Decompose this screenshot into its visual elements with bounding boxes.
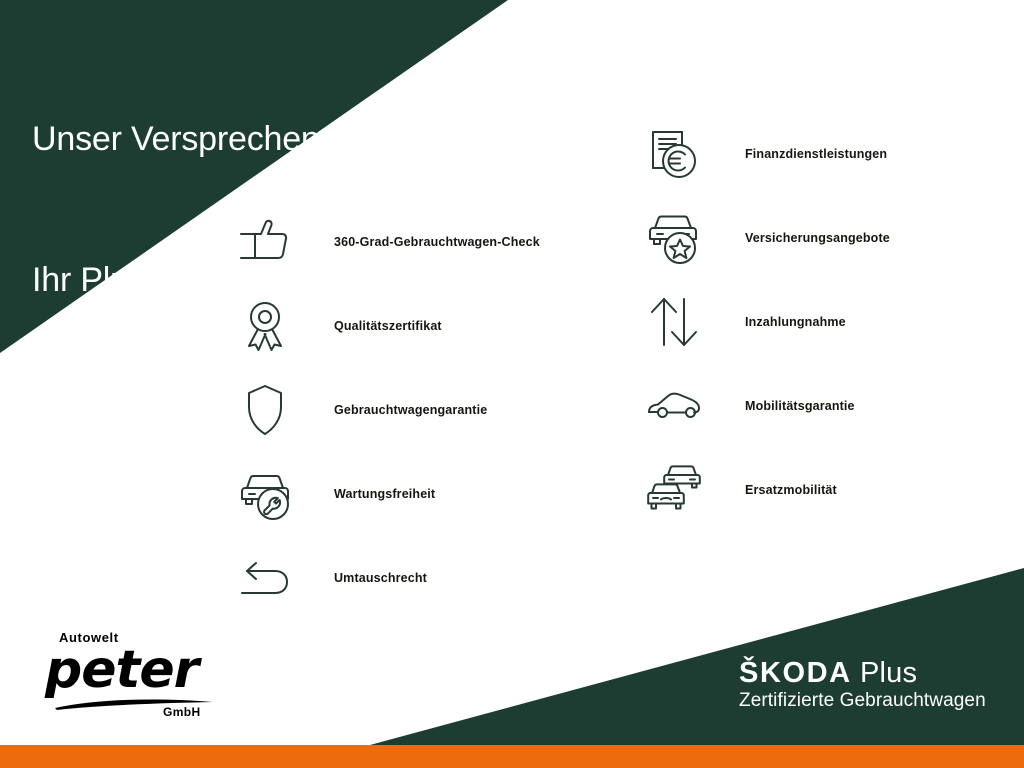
feature-item-financial-services: Finanzdienstleistungen — [645, 112, 975, 196]
thumbs-up-icon — [236, 213, 294, 271]
feature-item-mobility-guarantee: Mobilitätsgarantie — [645, 364, 975, 448]
feature-list-left: 360-Grad-Gebrauchtwagen-Check Qualitätsz… — [236, 200, 576, 620]
feature-label: Qualitätszertifikat — [334, 319, 442, 333]
car-star-icon — [645, 209, 703, 267]
feature-list-right: Finanzdienstleistungen Versicherungsange… — [645, 112, 975, 532]
dealer-logo-sub-text: GmbH — [163, 705, 201, 719]
feature-label: Gebrauchtwagengarantie — [334, 403, 487, 417]
feature-item-warranty: Gebrauchtwagengarantie — [236, 368, 576, 452]
feature-item-replacement-mobility: Ersatzmobilität — [645, 448, 975, 532]
up-down-arrows-icon — [645, 293, 703, 351]
feature-item-insurance-offers: Versicherungsangebote — [645, 196, 975, 280]
feature-label: 360-Grad-Gebrauchtwagen-Check — [334, 235, 540, 249]
dealer-logo: Autowelt peter GmbH — [45, 630, 225, 715]
skoda-plus-tagline: Zertifizierte Gebrauchtwagen — [739, 690, 986, 712]
orange-bottom-bar — [0, 745, 1024, 768]
feature-item-trade-in: Inzahlungnahme — [645, 280, 975, 364]
car-side-icon — [645, 377, 703, 435]
skoda-plus-title: ŠKODA Plus — [739, 658, 986, 688]
car-wrench-icon — [236, 465, 294, 523]
award-rosette-icon — [236, 297, 294, 355]
feature-item-return-right: Umtauschrecht — [236, 536, 576, 620]
feature-label: Ersatzmobilität — [745, 483, 837, 497]
return-arrow-icon — [236, 549, 294, 607]
feature-label: Finanzdienstleistungen — [745, 147, 887, 161]
feature-item-360-check: 360-Grad-Gebrauchtwagen-Check — [236, 200, 576, 284]
headline-line-1: Unser Versprechen. — [32, 116, 329, 163]
skoda-plus-branding: ŠKODA Plus Zertifizierte Gebrauchtwagen — [739, 658, 986, 712]
feature-label: Mobilitätsgarantie — [745, 399, 855, 413]
skoda-plus-label: Plus — [852, 657, 917, 689]
feature-label: Wartungsfreiheit — [334, 487, 435, 501]
promo-banner: Unser Versprechen. Ihr Plus. 360-Grad-Ge… — [0, 0, 1024, 768]
feature-label: Inzahlungnahme — [745, 315, 846, 329]
feature-label: Versicherungsangebote — [745, 231, 890, 245]
feature-item-quality-certificate: Qualitätszertifikat — [236, 284, 576, 368]
document-euro-icon — [645, 125, 703, 183]
shield-icon — [236, 381, 294, 439]
skoda-wordmark: ŠKODA — [739, 657, 852, 689]
two-cars-icon — [645, 461, 703, 519]
dealer-logo-name: peter — [45, 640, 198, 700]
feature-item-maintenance-free: Wartungsfreiheit — [236, 452, 576, 536]
feature-label: Umtauschrecht — [334, 571, 427, 585]
